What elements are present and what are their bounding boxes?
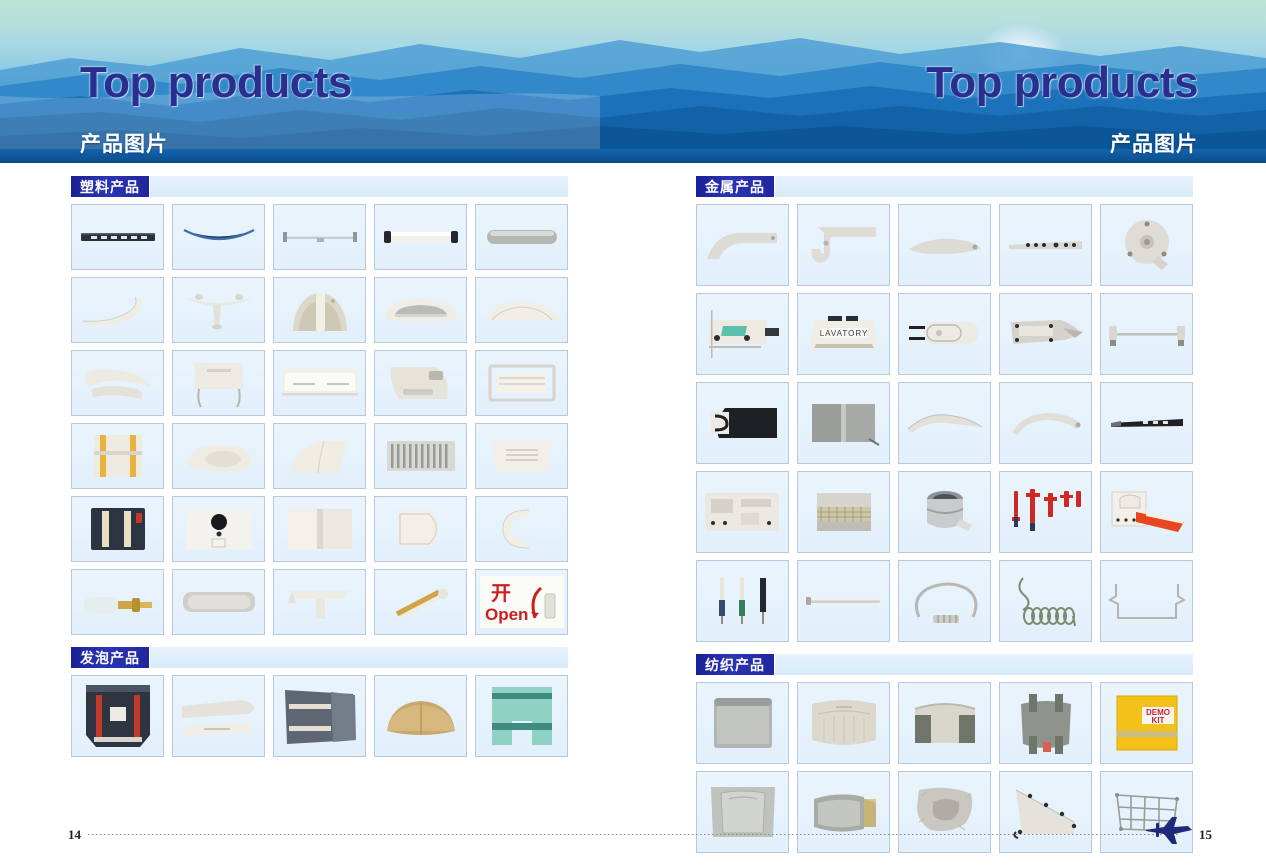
product-cell-metal-bent-handle[interactable] <box>999 382 1092 464</box>
product-cell-white-pedestal-bracket[interactable] <box>172 277 265 343</box>
product-cell-metal-hinge-assembly[interactable] <box>999 293 1092 375</box>
product-cell-white-slotted-tray[interactable] <box>475 423 568 489</box>
left-page-column: 塑料产品 <box>71 176 568 769</box>
product-cell-metal-oval-latch[interactable] <box>898 293 991 375</box>
product-cell-white-folding-shelf[interactable] <box>475 350 568 416</box>
product-grid-foam <box>71 675 568 757</box>
section-label-textile: 纺织产品 <box>696 654 775 675</box>
svg-text:KIT: KIT <box>1151 716 1164 725</box>
product-cell-white-panel-black-dome[interactable] <box>172 496 265 562</box>
banner-bottom-bar <box>0 149 1266 163</box>
section-header-bar: 发泡产品 <box>71 647 568 668</box>
product-cell-metal-cable-loop[interactable] <box>898 560 991 642</box>
product-cell-metal-curved-bracket[interactable] <box>696 204 789 286</box>
product-cell-teal-foam-seat-pad[interactable] <box>475 675 568 757</box>
product-cell-metal-black-bracket[interactable] <box>696 382 789 464</box>
product-cell-white-arched-cover[interactable] <box>475 277 568 343</box>
product-cell-metal-tie-rod[interactable] <box>1100 293 1193 375</box>
product-cell-white-cylindrical-roller[interactable] <box>374 204 467 270</box>
product-cell-grey-padded-cover[interactable] <box>696 682 789 764</box>
page-number-left: 14 <box>68 827 81 843</box>
product-cell-grey-seat-pocket[interactable] <box>898 682 991 764</box>
svg-text:开: 开 <box>491 583 511 605</box>
product-cell-grey-rounded-panel[interactable] <box>475 204 568 270</box>
section-header-bar: 塑料产品 <box>71 176 568 197</box>
product-grid-metal: LAVATORY <box>696 204 1193 642</box>
product-cell-curved-navy-blade[interactable] <box>172 204 265 270</box>
product-cell-ribbed-grey-grille[interactable] <box>374 423 467 489</box>
product-cell-black-drilled-rail[interactable] <box>1100 382 1193 464</box>
product-cell-beige-semicircle-hinge[interactable] <box>273 277 366 343</box>
product-cell-open-placard[interactable]: 开 Open <box>475 569 568 635</box>
product-cell-wire-frame-bracket[interactable] <box>1100 560 1193 642</box>
product-cell-dark-foam-seat-back[interactable] <box>71 675 164 757</box>
header-banner: Top products 产品图片 Top products 产品图片 <box>0 0 1266 163</box>
product-cell-white-orange-cutter[interactable] <box>1100 471 1193 553</box>
product-cell-white-toilet-shroud[interactable] <box>172 423 265 489</box>
product-cell-metal-drilled-strip[interactable] <box>999 204 1092 286</box>
product-cell-lavatory-sign-panel[interactable]: LAVATORY <box>797 293 890 375</box>
page-title-left: Top products <box>80 58 352 108</box>
product-cell-metal-mesh-block[interactable] <box>797 471 890 553</box>
product-cell-grey-console-housing[interactable] <box>374 350 467 416</box>
product-cell-grey-oval-tray[interactable] <box>172 569 265 635</box>
section-plastic-products: 塑料产品 <box>71 176 568 635</box>
product-cell-white-curved-hook-arm[interactable] <box>71 277 164 343</box>
airplane-icon <box>1142 815 1194 845</box>
product-cell-demo-kit-bag[interactable]: DEMO KIT <box>1100 682 1193 764</box>
product-cell-metal-curved-handle[interactable] <box>898 382 991 464</box>
right-page-column: 金属产品 <box>696 176 1193 865</box>
page-title-right: Top products <box>926 58 1198 108</box>
product-cell-navy-strap-pouch[interactable] <box>71 496 164 562</box>
product-cell-white-angled-fairing[interactable] <box>273 423 366 489</box>
section-header-bar: 金属产品 <box>696 176 1193 197</box>
product-cell-white-toilet-seat-ring[interactable] <box>475 496 568 562</box>
svg-text:Open: Open <box>485 605 528 624</box>
product-cell-grey-strap-harness[interactable] <box>999 682 1092 764</box>
section-foam-products: 发泡产品 <box>71 647 568 757</box>
product-cell-tan-foam-headrest[interactable] <box>374 675 467 757</box>
product-cell-chrome-tube-rod[interactable] <box>273 204 366 270</box>
product-cell-metal-base-plate[interactable] <box>696 471 789 553</box>
section-label-plastic: 塑料产品 <box>71 176 150 197</box>
page-subtitle-left: 产品图片 <box>80 128 168 158</box>
product-cell-beige-fabric-pouch[interactable] <box>797 682 890 764</box>
product-cell-white-frame-with-straps[interactable] <box>172 350 265 416</box>
product-cell-gold-white-lever[interactable] <box>374 569 467 635</box>
product-cell-metal-panel-green-insert[interactable] <box>696 293 789 375</box>
product-cell-grey-foam-cushion[interactable] <box>273 675 366 757</box>
section-metal-products: 金属产品 <box>696 176 1193 642</box>
section-label-metal: 金属产品 <box>696 176 775 197</box>
product-cell-metal-round-flange[interactable] <box>1100 204 1193 286</box>
product-cell-white-handle-recess[interactable] <box>374 277 467 343</box>
product-cell-metal-cylinder-clamp[interactable] <box>898 471 991 553</box>
product-cell-probe-tool-trio[interactable] <box>696 560 789 642</box>
product-cell-white-t-handle-arm[interactable] <box>273 569 366 635</box>
footer-divider <box>88 834 1178 835</box>
product-cell-white-yellow-strap-panel[interactable] <box>71 423 164 489</box>
section-label-foam: 发泡产品 <box>71 647 150 668</box>
page-subtitle-right: 产品图片 <box>1110 128 1198 158</box>
product-cell-metal-tapered-link[interactable] <box>898 204 991 286</box>
product-grid-plastic: 开 Open <box>71 204 568 635</box>
product-cell-metal-hook-arm[interactable] <box>797 204 890 286</box>
page-footer: 14 15 <box>0 810 1266 865</box>
product-cell-coiled-spring-wire[interactable] <box>999 560 1092 642</box>
product-cell-grey-twin-panel[interactable] <box>797 382 890 464</box>
product-cell-metal-straight-rod[interactable] <box>797 560 890 642</box>
product-cell-white-foam-strip-pair[interactable] <box>172 675 265 757</box>
page-number-right: 15 <box>1199 827 1212 843</box>
product-cell-white-tray-table[interactable] <box>273 350 366 416</box>
catalog-spread: Top products 产品图片 Top products 产品图片 塑料产品 <box>0 0 1266 865</box>
product-cell-black-perforated-rail[interactable] <box>71 204 164 270</box>
product-cell-white-double-door-panel[interactable] <box>273 496 366 562</box>
product-cell-glass-bottle-fitting[interactable] <box>71 569 164 635</box>
product-cell-white-seat-armrest[interactable] <box>71 350 164 416</box>
svg-text:LAVATORY: LAVATORY <box>819 329 868 338</box>
section-header-bar: 纺织产品 <box>696 654 1193 675</box>
product-cell-white-toilet-seat-lid[interactable] <box>374 496 467 562</box>
product-cell-red-tool-set[interactable] <box>999 471 1092 553</box>
